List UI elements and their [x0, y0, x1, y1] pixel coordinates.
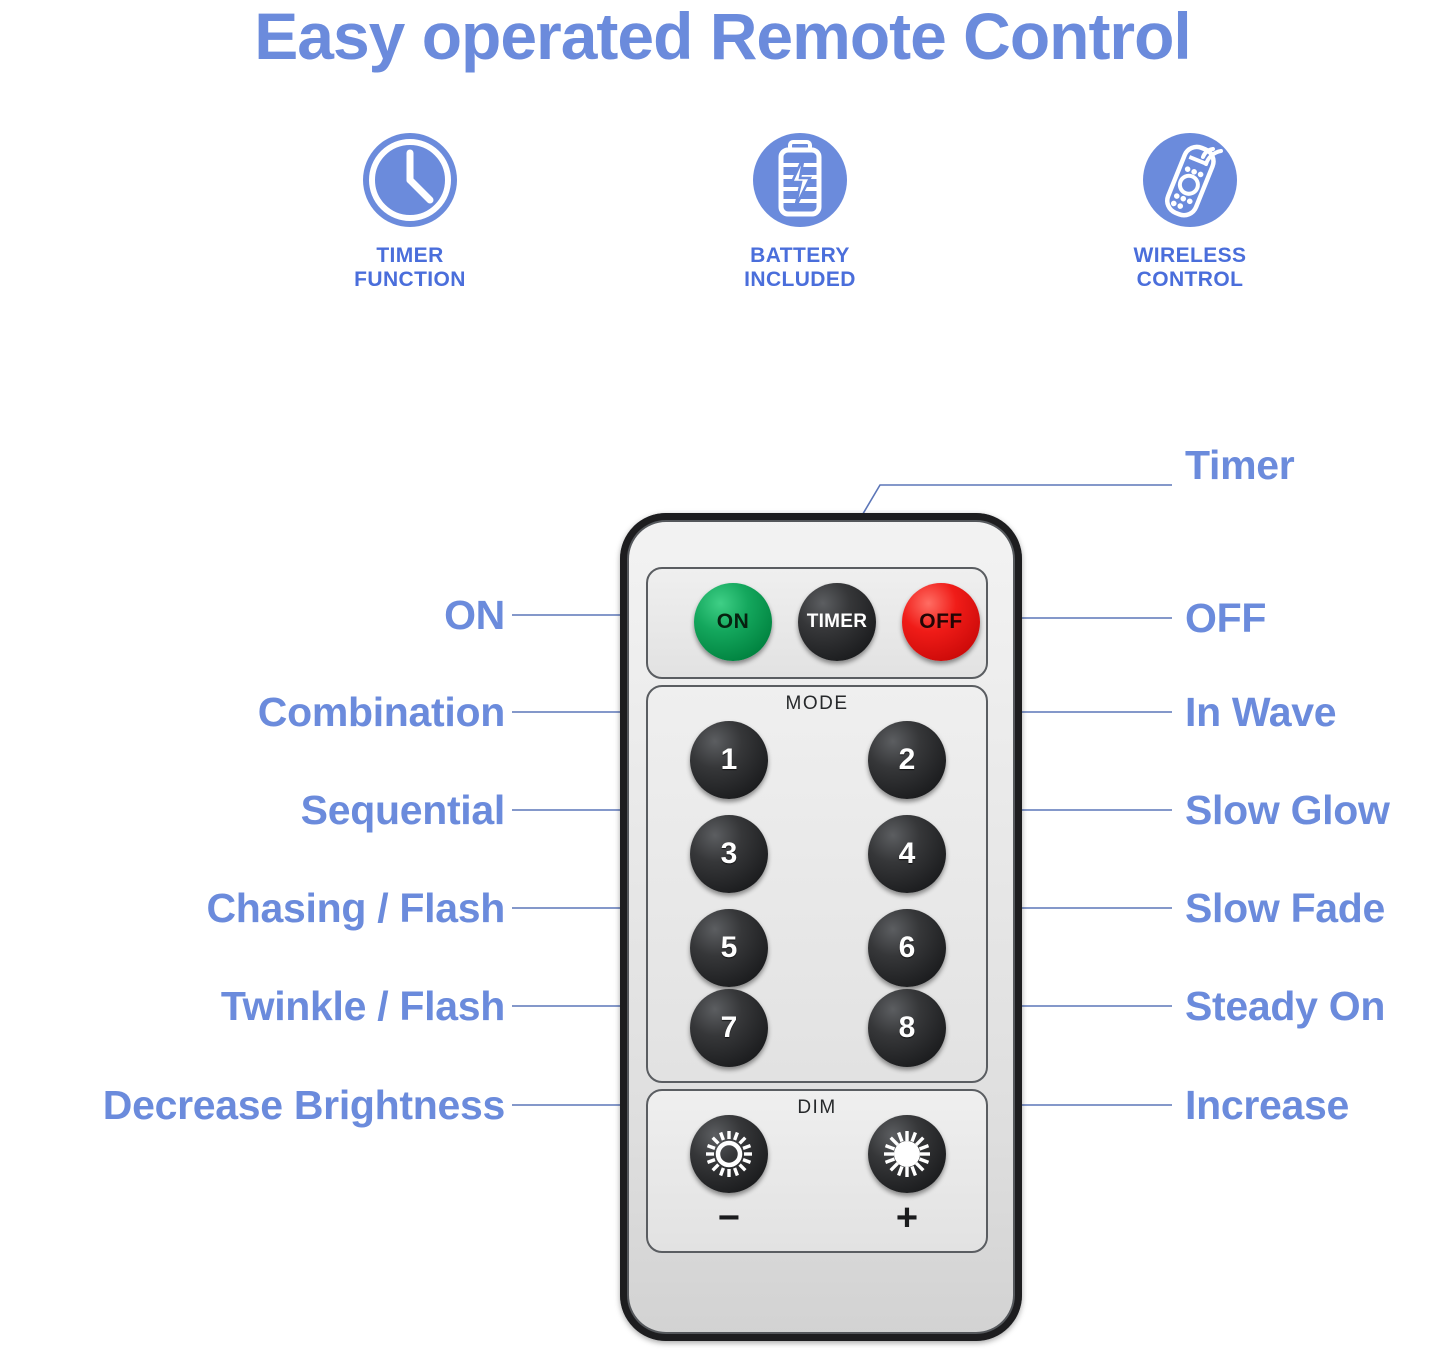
feature-timer-line2: FUNCTION: [354, 268, 466, 292]
off-button[interactable]: OFF: [902, 583, 980, 661]
on-button[interactable]: ON: [694, 583, 772, 661]
dim-plus-label: +: [877, 1199, 937, 1237]
mode-button-4[interactable]: 4: [868, 815, 946, 893]
callout-steady-on: Steady On: [1185, 986, 1385, 1027]
feature-timer-line1: TIMER: [376, 244, 443, 267]
feature-battery-label: BATTERY INCLUDED: [744, 244, 856, 292]
callout-chasing-flash: Chasing / Flash: [0, 888, 505, 929]
dim-caption: DIM: [648, 1097, 986, 1119]
feature-wireless-control: WIRELESS CONTROL: [1080, 130, 1300, 292]
mode-button-7[interactable]: 7: [690, 989, 768, 1067]
feature-battery-line1: BATTERY: [750, 244, 850, 267]
callout-decrease-brightness: Decrease Brightness: [0, 1085, 505, 1126]
timer-button[interactable]: TIMER: [798, 583, 876, 661]
mode-button-1[interactable]: 1: [690, 721, 768, 799]
sun-filled-icon: [881, 1128, 933, 1180]
mode-button-3[interactable]: 3: [690, 815, 768, 893]
callout-increase: Increase: [1185, 1085, 1349, 1126]
callout-timer: Timer: [1185, 445, 1294, 486]
callout-combination: Combination: [0, 692, 505, 733]
mode-button-5[interactable]: 5: [690, 909, 768, 987]
mode-caption: MODE: [648, 693, 986, 715]
mode-button-6[interactable]: 6: [868, 909, 946, 987]
sun-outline-icon: [703, 1128, 755, 1180]
callout-twinkle-flash: Twinkle / Flash: [0, 986, 505, 1027]
dim-minus-label: −: [699, 1199, 759, 1237]
callout-off: OFF: [1185, 598, 1266, 639]
dim-down-button[interactable]: [690, 1115, 768, 1193]
mode-button-8[interactable]: 8: [868, 989, 946, 1067]
callout-in-wave: In Wave: [1185, 692, 1336, 733]
remote-icon: [1140, 130, 1240, 230]
page-title: Easy operated Remote Control: [0, 0, 1445, 74]
feature-battery-included: BATTERY INCLUDED: [690, 130, 910, 292]
remote-control-body: ON TIMER OFF MODE 1 2 3 4 5 6 7 8 DIM: [620, 513, 1022, 1341]
callout-slow-fade: Slow Fade: [1185, 888, 1385, 929]
feature-wireless-line2: CONTROL: [1134, 268, 1247, 292]
feature-battery-line2: INCLUDED: [744, 268, 856, 292]
mode-button-2[interactable]: 2: [868, 721, 946, 799]
battery-icon: [750, 130, 850, 230]
feature-timer-label: TIMER FUNCTION: [354, 244, 466, 292]
mode-panel: MODE 1 2 3 4 5 6 7 8: [646, 685, 988, 1083]
feature-wireless-line1: WIRELESS: [1134, 244, 1247, 267]
feature-badge-row: TIMER FUNCTION BATTERY INCLUDED: [300, 130, 1300, 310]
clock-icon: [360, 130, 460, 230]
dim-panel: DIM: [646, 1089, 988, 1253]
feature-wireless-label: WIRELESS CONTROL: [1134, 244, 1247, 292]
dim-up-button[interactable]: [868, 1115, 946, 1193]
callout-on: ON: [0, 595, 505, 636]
feature-timer-function: TIMER FUNCTION: [300, 130, 520, 292]
callout-slow-glow: Slow Glow: [1185, 790, 1390, 831]
power-panel: ON TIMER OFF: [646, 567, 988, 679]
callout-sequential: Sequential: [0, 790, 505, 831]
